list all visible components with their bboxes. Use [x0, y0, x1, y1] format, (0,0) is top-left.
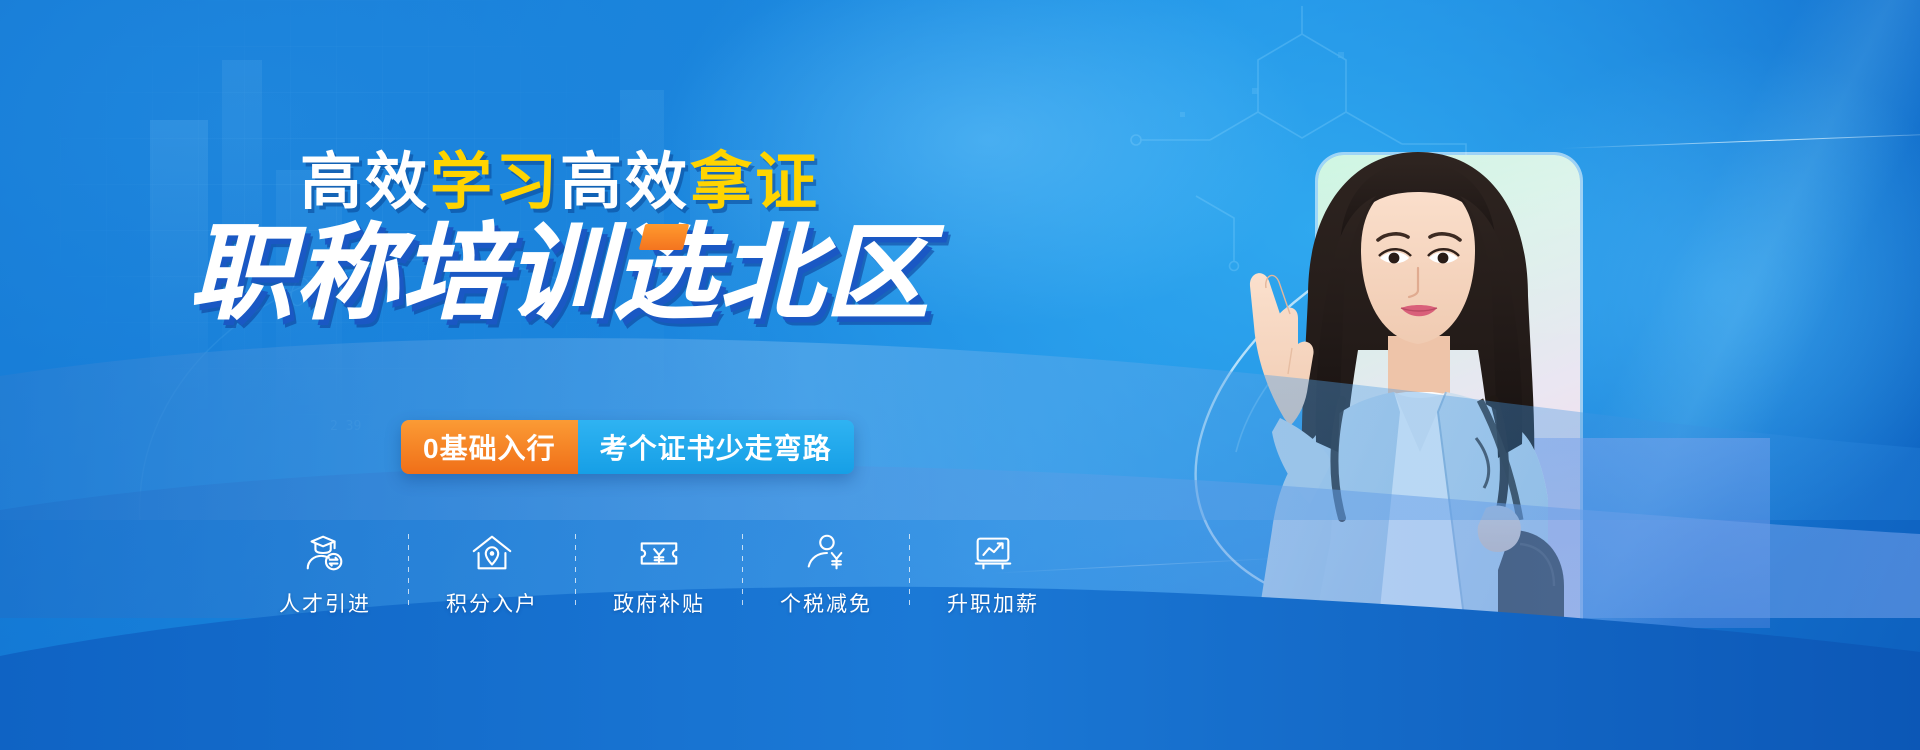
headline-top-seg-2: 学习 [430, 148, 560, 217]
copy-block: 高效学习高效拿证 职称培训选北区 0基础入行 考个证书少走弯路 [0, 0, 1180, 750]
graduate-person-icon [302, 530, 348, 576]
promo-banner: 2 39 [0, 0, 1920, 750]
feature-label: 人才引进 [279, 588, 371, 618]
headline-top-seg-4: 拿证 [690, 148, 820, 217]
feature-divider [909, 534, 910, 608]
tag-strip: 0基础入行 考个证书少走弯路 [401, 420, 854, 474]
person-yuan-icon [803, 530, 849, 576]
feature-label: 个税减免 [780, 588, 872, 618]
headline-main: 职称培训选北区 [0, 222, 1120, 326]
headline-top-seg-1: 高效 [300, 148, 430, 217]
feature-divider [408, 534, 409, 608]
chart-board-icon [970, 530, 1016, 576]
feature-label: 积分入户 [446, 588, 538, 618]
feature-item-promotion[interactable]: 升职加薪 [926, 530, 1060, 618]
tag-primary: 0基础入行 [401, 420, 578, 474]
feature-divider [575, 534, 576, 608]
feature-row: 人才引进 积分入户 [258, 530, 1060, 618]
feature-label: 升职加薪 [947, 588, 1039, 618]
tag-secondary: 考个证书少走弯路 [578, 420, 854, 474]
orange-accent-mark [639, 224, 689, 250]
feature-item-talent[interactable]: 人才引进 [258, 530, 392, 618]
feature-item-tax[interactable]: 个税减免 [759, 530, 893, 618]
feature-label: 政府补贴 [613, 588, 705, 618]
headline-top: 高效学习高效拿证 [0, 152, 1120, 214]
headline-top-seg-3: 高效 [560, 148, 690, 217]
feature-item-subsidy[interactable]: 政府补贴 [592, 530, 726, 618]
feature-item-residence[interactable]: 积分入户 [425, 530, 559, 618]
headline-main-text: 职称培训选北区 [189, 216, 931, 332]
feature-divider [742, 534, 743, 608]
house-pin-icon [469, 530, 515, 576]
yuan-ticket-icon [636, 530, 682, 576]
